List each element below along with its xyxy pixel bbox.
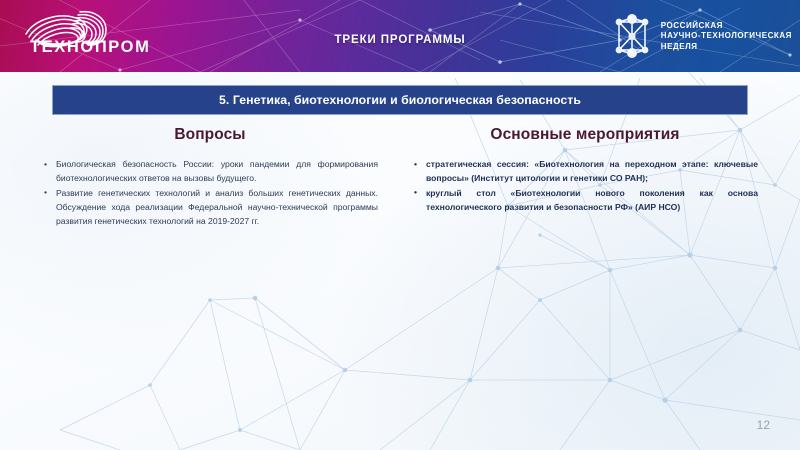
questions-heading: Вопросы — [42, 126, 378, 144]
rntn-logo-text: РОССИЙСКАЯ НАУЧНО-ТЕХНОЛОГИЧЕСКАЯ НЕДЕЛЯ — [661, 21, 792, 51]
questions-list: Биологическая безопасность России: уроки… — [42, 158, 378, 229]
column-questions: Вопросы Биологическая безопасность Росси… — [0, 126, 400, 426]
events-heading: Основные мероприятия — [412, 126, 758, 144]
list-item: Развитие генетических технологий и анали… — [42, 187, 378, 229]
track-title-bar: 5. Генетика, биотехнологии и биологическ… — [52, 85, 748, 115]
track-title: 5. Генетика, биотехнологии и биологическ… — [219, 93, 581, 107]
rntn-line-1: РОССИЙСКАЯ — [661, 21, 792, 30]
rntn-line-3: НЕДЕЛЯ — [661, 42, 792, 51]
slide-content: Вопросы Биологическая безопасность Росси… — [0, 126, 800, 426]
page-number: 12 — [757, 418, 770, 432]
column-events: Основные мероприятия стратегическая сесс… — [400, 126, 800, 426]
rntn-logo: РОССИЙСКАЯ НАУЧНО-ТЕХНОЛОГИЧЕСКАЯ НЕДЕЛЯ — [609, 10, 792, 62]
events-list: стратегическая сессия: «Биотехнология на… — [412, 158, 758, 215]
rntn-line-2: НАУЧНО-ТЕХНОЛОГИЧЕСКАЯ — [661, 31, 792, 40]
list-item: Биологическая безопасность России: уроки… — [42, 158, 378, 186]
slide-12: ТЕХНОПРОМ ТРЕКИ ПРОГРАММЫ — [0, 0, 800, 450]
molecule-network-icon — [609, 13, 655, 59]
list-item: круглый стол «Биотехнологии нового покол… — [412, 187, 758, 215]
list-item: стратегическая сессия: «Биотехнология на… — [412, 158, 758, 186]
slide-header: ТЕХНОПРОМ ТРЕКИ ПРОГРАММЫ — [0, 0, 800, 72]
